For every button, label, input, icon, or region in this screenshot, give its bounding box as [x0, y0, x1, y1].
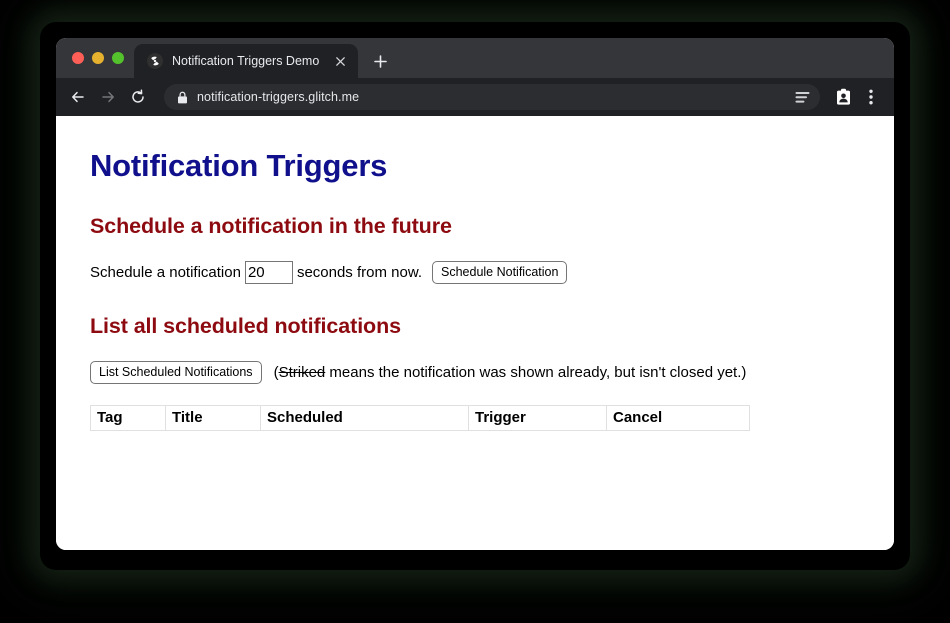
lock-icon: [177, 91, 188, 104]
seconds-input[interactable]: [245, 261, 293, 284]
column-header-scheduled: Scheduled: [261, 406, 469, 431]
page-viewport: Notification Triggers Schedule a notific…: [56, 116, 894, 550]
hint-rest-text: means the notification was shown already…: [325, 364, 746, 381]
table-header-row: Tag Title Scheduled Trigger Cancel: [91, 406, 750, 431]
schedule-section-heading: Schedule a notification in the future: [90, 214, 860, 239]
hint-struck-word: Striked: [279, 364, 326, 381]
profile-card-icon[interactable]: [830, 84, 856, 110]
url-text: notification-triggers.glitch.me: [197, 90, 786, 104]
schedule-form-row: Schedule a notification seconds from now…: [90, 261, 860, 284]
column-header-title: Title: [166, 406, 261, 431]
browser-toolbar: notification-triggers.glitch.me: [56, 78, 894, 116]
list-form-row: List Scheduled Notifications (Striked me…: [90, 361, 860, 384]
column-header-tag: Tag: [91, 406, 166, 431]
close-tab-icon[interactable]: [331, 52, 349, 70]
schedule-notification-button[interactable]: Schedule Notification: [432, 261, 567, 284]
zoom-window-button[interactable]: [112, 52, 124, 64]
back-arrow-icon[interactable]: [64, 83, 92, 111]
three-dot-menu-icon[interactable]: [858, 84, 884, 110]
scheduled-notifications-table: Tag Title Scheduled Trigger Cancel: [90, 405, 750, 431]
list-section-heading: List all scheduled notifications: [90, 314, 860, 339]
column-header-trigger: Trigger: [469, 406, 607, 431]
list-scheduled-notifications-button[interactable]: List Scheduled Notifications: [90, 361, 262, 384]
close-window-button[interactable]: [72, 52, 84, 64]
reload-icon[interactable]: [124, 83, 152, 111]
schedule-text-after: seconds from now.: [297, 264, 422, 281]
tab-strip: Notification Triggers Demo: [56, 38, 894, 78]
forward-arrow-icon[interactable]: [94, 83, 122, 111]
window-controls: [66, 38, 134, 78]
minimize-window-button[interactable]: [92, 52, 104, 64]
glitch-favicon-icon: [147, 53, 163, 69]
schedule-text-before: Schedule a notification: [90, 264, 241, 281]
browser-tab-active[interactable]: Notification Triggers Demo: [134, 44, 358, 78]
address-bar[interactable]: notification-triggers.glitch.me: [164, 84, 820, 110]
column-header-cancel: Cancel: [607, 406, 750, 431]
new-tab-button[interactable]: [366, 47, 394, 75]
reading-list-icon[interactable]: [795, 91, 810, 104]
page-title: Notification Triggers: [90, 148, 860, 184]
tab-title: Notification Triggers Demo: [172, 54, 322, 68]
striked-hint: (Striked means the notification was show…: [274, 364, 747, 381]
browser-window: Notification Triggers Demo: [56, 38, 894, 550]
